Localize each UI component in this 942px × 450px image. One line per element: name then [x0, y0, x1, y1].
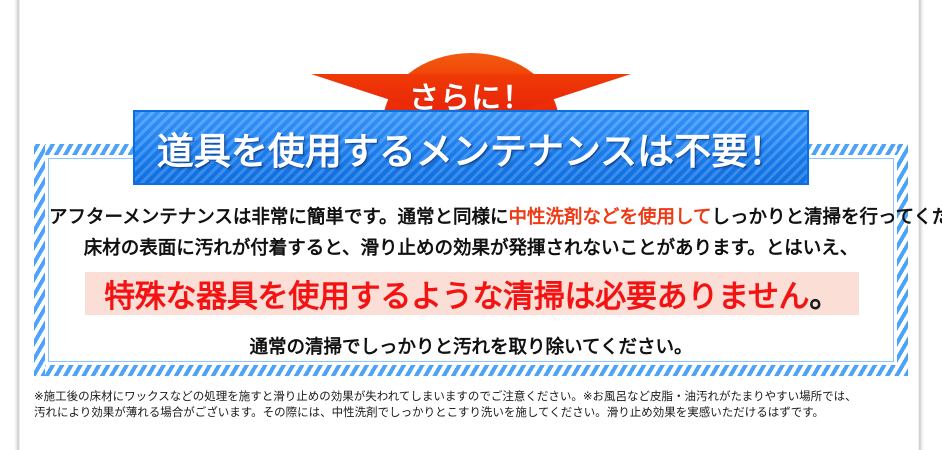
- highlight-callout-period: 。: [809, 279, 840, 315]
- footnote: ※施工後の床材にワックスなどの処理を施すと滑り止めの効果が失われてしまいますので…: [34, 389, 910, 421]
- page-edge-left: [14, 0, 20, 450]
- closing-line: 通常の清掃でしっかりと汚れを取り除いてください。: [49, 333, 893, 359]
- dash-edge-left: [34, 144, 45, 376]
- highlight-callout-text: 特殊な器具を使用するような清掃は必要ありません。: [104, 271, 840, 316]
- headline-text: 道具を使用するメンテナンスは不要！: [157, 121, 785, 175]
- body-line-2: 床材の表面に汚れが付着すると、滑り止めの効果が発揮されないことがあります。とはい…: [49, 234, 893, 260]
- body-line-1-part-a: アフターメンテナンスは非常に簡単です。通常と同様に: [49, 207, 509, 228]
- body-line-1-emphasis: 中性洗剤などを使用して: [509, 207, 712, 228]
- headline-box: 道具を使用するメンテナンスは不要！: [133, 110, 809, 185]
- dash-edge-bottom: [34, 365, 908, 376]
- body-line-1: アフターメンテナンスは非常に簡単です。通常と同様に中性洗剤などを使用してしっかり…: [49, 203, 893, 229]
- body-line-1-part-b: しっかりと清掃を行ってください。: [712, 207, 942, 228]
- promo-banner-page: さらに！ 道具を使用するメンテナンスは不要！ アフターメンテナンスは非常に簡単で…: [0, 0, 942, 450]
- dash-edge-right: [897, 144, 908, 376]
- red-arrow-banner: さらに！: [311, 53, 631, 118]
- highlight-callout: 特殊な器具を使用するような清掃は必要ありません。: [85, 272, 859, 315]
- footnote-line-2: 汚れにより効果が薄れる場合がございます。その際には、中性洗剤でしっかりとこすり洗…: [34, 405, 910, 421]
- content-panel: アフターメンテナンスは非常に簡単です。通常と同様に中性洗剤などを使用してしっかり…: [48, 158, 894, 362]
- highlight-callout-main: 特殊な器具を使用するような清掃は必要ありません: [104, 279, 809, 315]
- footnote-line-1: ※施工後の床材にワックスなどの処理を施すと滑り止めの効果が失われてしまいますので…: [34, 389, 910, 405]
